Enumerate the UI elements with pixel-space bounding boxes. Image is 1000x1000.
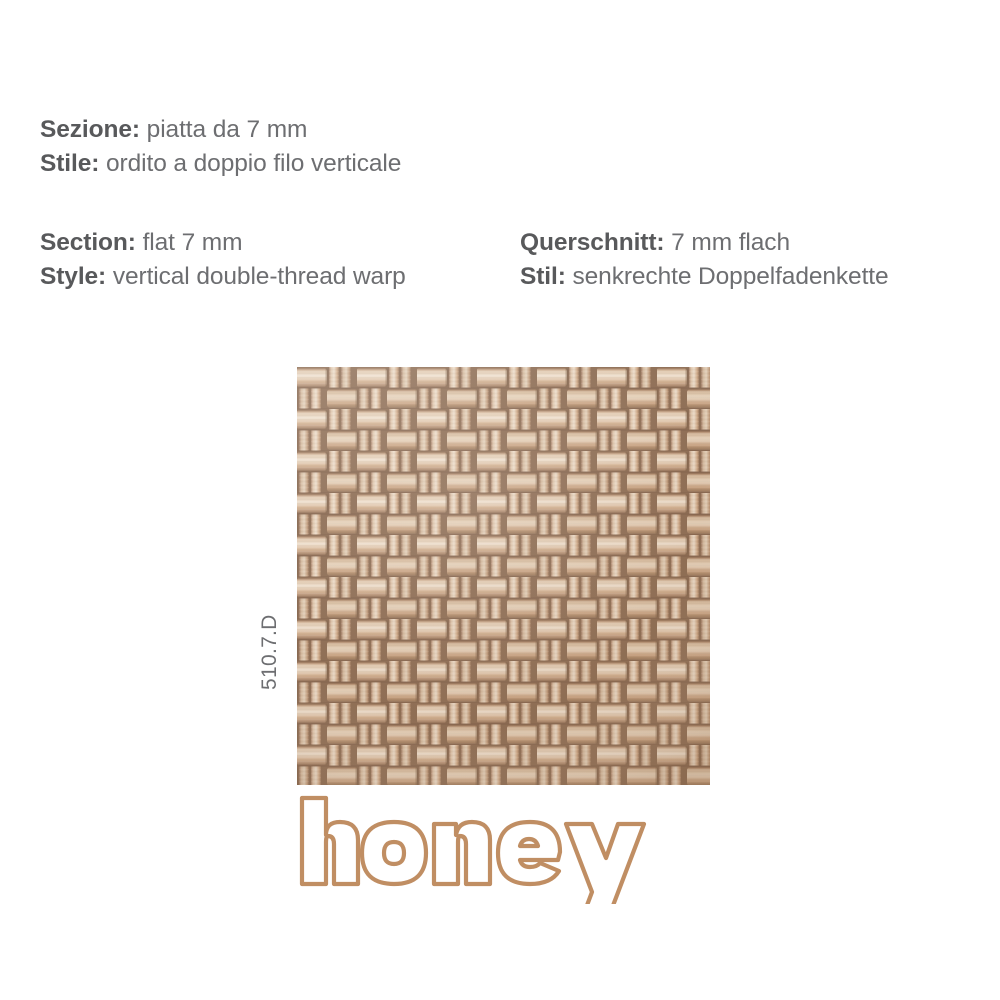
spec-value-stile: ordito a doppio filo verticale <box>106 150 401 177</box>
spec-line-sezione: Sezione: piatta da 7 mm <box>40 113 401 147</box>
spec-line-stile: Stile: ordito a doppio filo verticale <box>40 147 401 181</box>
spec-block-german: Querschnitt: 7 mm flach Stil: senkrechte… <box>520 226 889 294</box>
swatch-code-text: 510.7.D <box>258 580 282 690</box>
spec-label-sezione: Sezione: <box>40 116 140 143</box>
weave-swatch-image <box>297 367 710 785</box>
spec-value-section: flat 7 mm <box>143 229 243 256</box>
spec-block-english: Section: flat 7 mm Style: vertical doubl… <box>40 226 406 294</box>
spec-label-querschnitt: Querschnitt: <box>520 229 664 256</box>
spec-label-stil: Stil: <box>520 263 566 290</box>
spec-label-style: Style: <box>40 263 106 290</box>
honey-wordmark <box>296 792 656 904</box>
spec-label-stile: Stile: <box>40 150 99 177</box>
honey-wordmark-graphic <box>296 792 656 904</box>
spec-line-stil: Stil: senkrechte Doppelfadenkette <box>520 260 889 294</box>
spec-line-section: Section: flat 7 mm <box>40 226 406 260</box>
spec-line-querschnitt: Querschnitt: 7 mm flach <box>520 226 889 260</box>
spec-value-querschnitt: 7 mm flach <box>671 229 790 256</box>
weave-pattern-graphic <box>297 367 710 785</box>
spec-value-sezione: piatta da 7 mm <box>147 116 308 143</box>
swatch-code-label: 510.7.D <box>258 580 282 690</box>
spec-label-section: Section: <box>40 229 136 256</box>
spec-line-style: Style: vertical double-thread warp <box>40 260 406 294</box>
spec-block-italian: Sezione: piatta da 7 mm Stile: ordito a … <box>40 113 401 181</box>
spec-value-stil: senkrechte Doppelfadenkette <box>573 263 889 290</box>
weave-swatch <box>297 367 710 785</box>
spec-value-style: vertical double-thread warp <box>113 263 406 290</box>
